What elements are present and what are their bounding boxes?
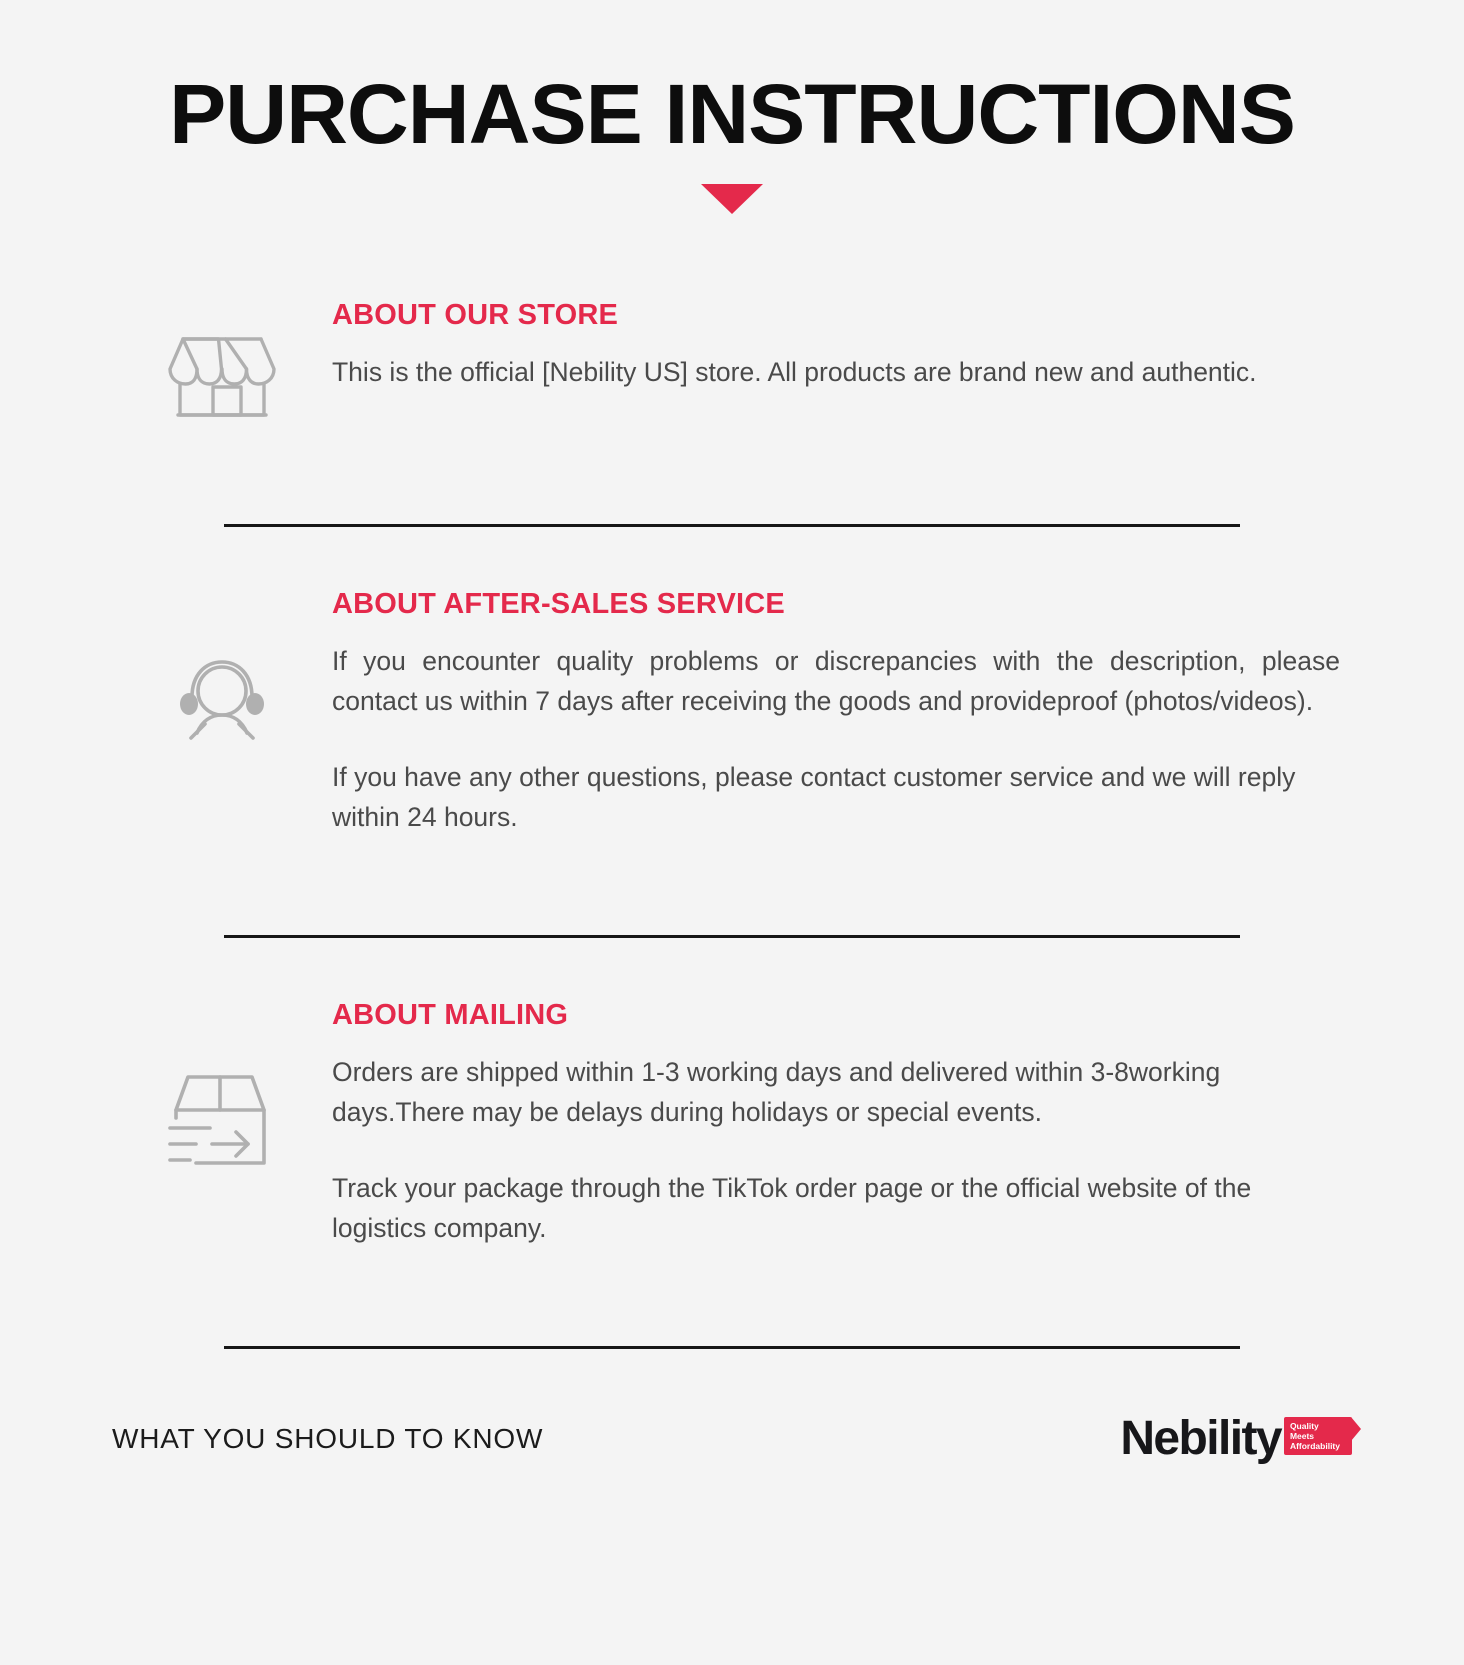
section-paragraph-service-2: If you have any other questions, please …	[332, 757, 1340, 838]
divider-2	[224, 935, 1240, 938]
footer-note: WHAT YOU SHOULD TO KNOW	[112, 1423, 543, 1455]
section-heading-store: ABOUT OUR STORE	[332, 300, 1340, 332]
brand-tagline-line-1: Quality	[1290, 1421, 1340, 1431]
section-text-mailing: ABOUT MAILING Orders are shipped within …	[332, 1000, 1352, 1249]
page-footer: WHAT YOU SHOULD TO KNOW Nebility Quality…	[0, 1415, 1464, 1463]
brand-tagline-line-3: Affordability	[1290, 1441, 1340, 1451]
section-text-service: ABOUT AFTER-SALES SERVICE If you encount…	[332, 589, 1352, 838]
divider-3	[224, 1346, 1240, 1349]
section-paragraph-mailing-2: Track your package through the TikTok or…	[332, 1168, 1340, 1249]
arrow-divider	[0, 184, 1464, 214]
sections-container: ABOUT OUR STORE This is the official [Ne…	[0, 300, 1464, 1349]
section-icon-service	[112, 589, 332, 757]
brand-tagline-badge: Quality Meets Affordability	[1284, 1417, 1352, 1455]
brand-logo: Nebility Quality Meets Affordability	[1120, 1415, 1352, 1463]
section-icon-store	[112, 300, 332, 420]
section-about-our-store: ABOUT OUR STORE This is the official [Ne…	[112, 300, 1352, 476]
brand-tagline-line-2: Meets	[1290, 1431, 1340, 1441]
section-about-mailing: ABOUT MAILING Orders are shipped within …	[112, 1000, 1352, 1300]
section-text-store: ABOUT OUR STORE This is the official [Ne…	[332, 300, 1352, 392]
page-header: PURCHASE INSTRUCTIONS	[0, 0, 1464, 214]
section-about-after-sales-service: ABOUT AFTER-SALES SERVICE If you encount…	[112, 589, 1352, 889]
section-paragraph-mailing-1: Orders are shipped within 1-3 working da…	[332, 1052, 1340, 1133]
section-paragraph-store-1: This is the official [Nebility US] store…	[332, 352, 1340, 392]
brand-name: Nebility	[1120, 1415, 1281, 1463]
triangle-down-icon	[701, 184, 763, 214]
package-shipping-icon	[166, 1066, 278, 1170]
section-heading-mailing: ABOUT MAILING	[332, 1000, 1340, 1032]
purchase-instructions-page: PURCHASE INSTRUCTIONS	[0, 0, 1464, 1665]
page-title: PURCHASE INSTRUCTIONS	[0, 72, 1464, 158]
divider-1	[224, 524, 1240, 527]
storefront-icon	[166, 312, 278, 420]
customer-support-headset-icon	[166, 645, 278, 757]
section-icon-mailing	[112, 1000, 332, 1170]
section-heading-service: ABOUT AFTER-SALES SERVICE	[332, 589, 1340, 621]
section-paragraph-service-1: If you encounter quality problems or dis…	[332, 641, 1340, 722]
